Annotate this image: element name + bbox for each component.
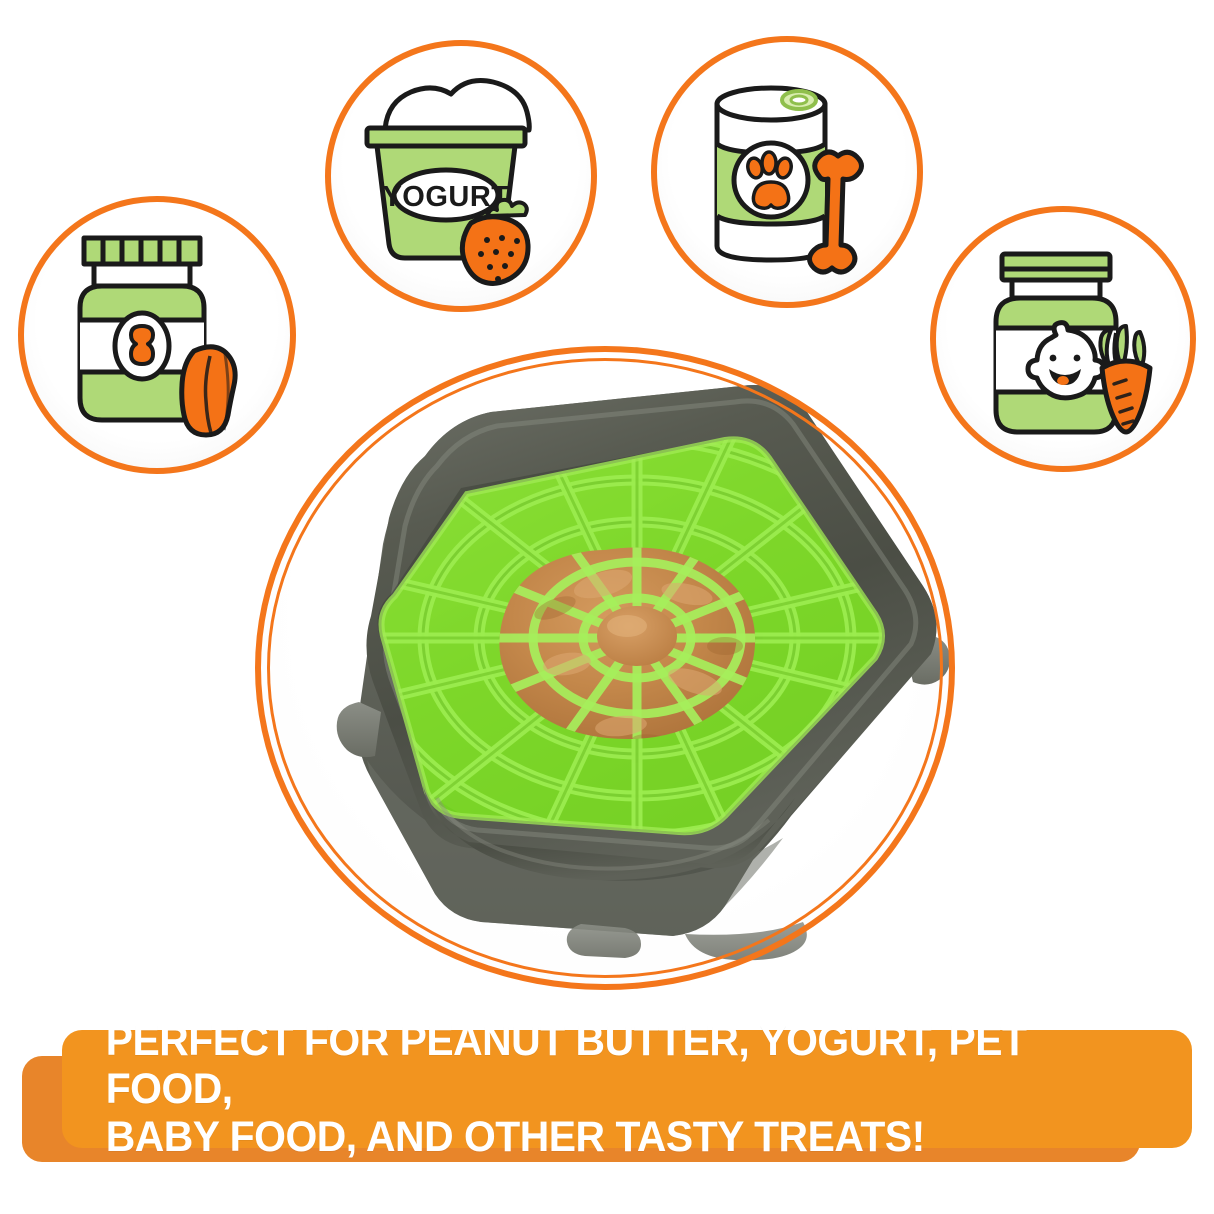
yogurt-tub-icon: YOGURT (325, 40, 597, 312)
banner-text: PERFECT FOR PEANUT BUTTER, YOGURT, PET F… (62, 1017, 1136, 1161)
badge-baby-food (930, 206, 1196, 472)
badge-pet-food (651, 36, 923, 308)
badge-yogurt: YOGURT (325, 40, 597, 312)
banner-body: PERFECT FOR PEANUT BUTTER, YOGURT, PET F… (62, 1030, 1192, 1148)
peanut-shell-icon (182, 347, 235, 435)
baby-food-jar-icon (930, 206, 1196, 472)
pet-food-can-icon (651, 36, 923, 308)
product-ring-inner (267, 358, 943, 978)
product-photo-circle (255, 346, 955, 990)
infographic-canvas: YOGURT (0, 0, 1214, 1214)
banner: PERFECT FOR PEANUT BUTTER, YOGURT, PET F… (22, 1030, 1192, 1180)
